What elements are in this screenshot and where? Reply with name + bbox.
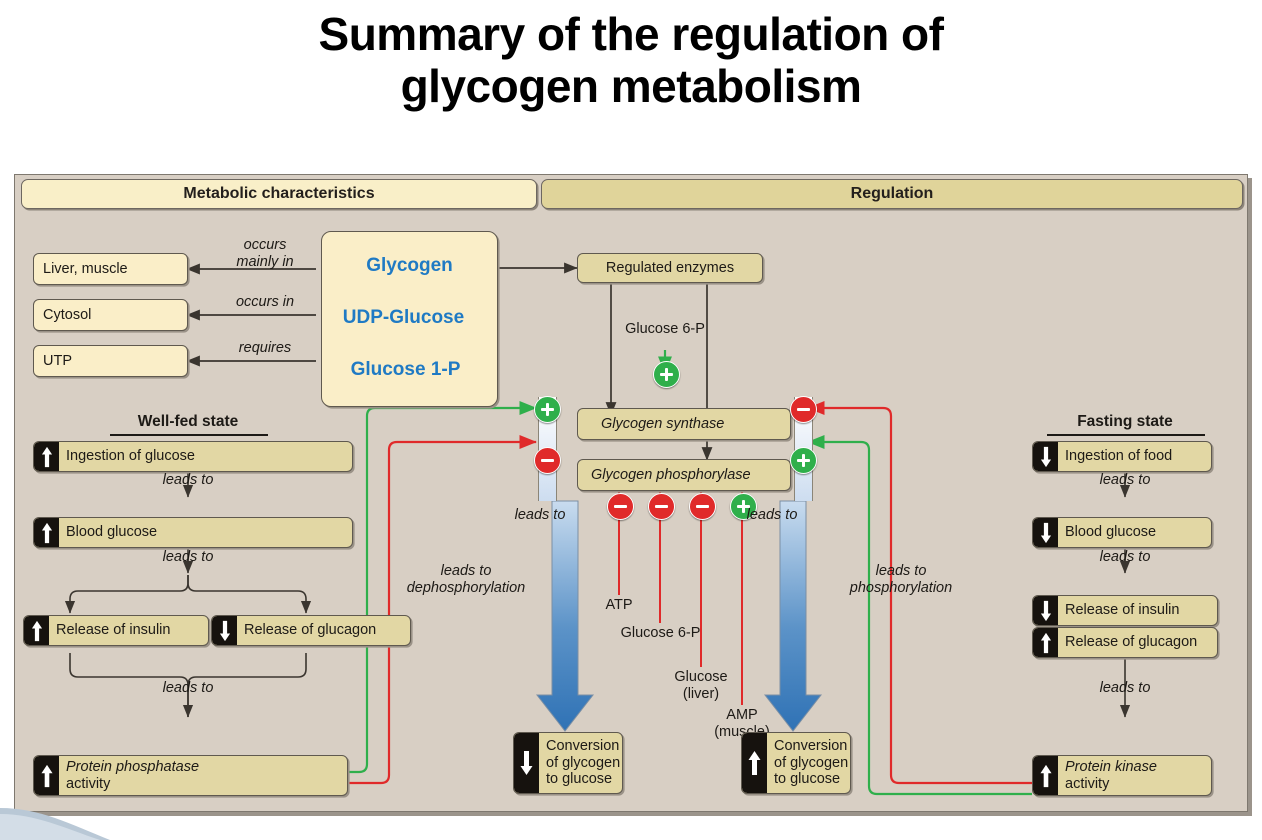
well-fed-final-line-2: activity <box>66 776 199 793</box>
header-metabolic-characteristics: Metabolic characteristics <box>21 179 537 209</box>
fasting-final-line-2: activity <box>1065 776 1157 793</box>
metabolic-location-0-label: Liver, muscle <box>43 261 128 277</box>
down-arrow-icon-fasting-hormone-0 <box>1033 596 1058 625</box>
fasting-step-0-label: Ingestion of food <box>1058 442 1211 471</box>
outcome-left-line-1: Conversion <box>546 738 620 755</box>
well-fed-hormone-0-label: Release of insulin <box>49 616 208 645</box>
outcome-left-box[interactable]: Conversion of glycogen to glucose <box>513 732 623 794</box>
header-regulation: Regulation <box>541 179 1243 209</box>
fasting-connector-1: leads to <box>1075 549 1175 566</box>
allosteric-activator-label: Glucose 6-P <box>600 321 730 338</box>
decorative-swoosh <box>0 800 240 840</box>
well-fed-connector-0: leads to <box>138 472 238 489</box>
minus-icon-phosphorylase-left <box>534 447 561 474</box>
fasting-hormone-1-label: Release of glucagon <box>1058 628 1217 657</box>
fasting-connector-2: leads to <box>1075 680 1175 697</box>
well-fed-final-text: Protein phosphatase activity <box>59 756 347 795</box>
enzyme-glycogen-synthase-label: Glycogen synthase <box>587 416 724 432</box>
fasting-final-box[interactable]: Protein kinase activity <box>1032 755 1212 796</box>
regulated-enzymes-label: Regulated enzymes <box>606 260 734 276</box>
outcome-right-text: Conversion of glycogen to glucose <box>767 733 850 793</box>
pathway-glycogen-label: Glycogen <box>321 255 498 277</box>
fasting-step-1[interactable]: Blood glucose <box>1032 517 1212 548</box>
fasting-final-text: Protein kinase activity <box>1058 756 1211 795</box>
minus-icon-glucose-liver <box>689 493 716 520</box>
fasting-final-line-1: Protein kinase <box>1065 759 1157 776</box>
up-arrow-icon-fasting-final <box>1033 756 1058 795</box>
minus-icon-glucose6p <box>648 493 675 520</box>
plus-icon-phosphorylase-right <box>790 447 817 474</box>
fasting-heading-rule <box>1047 434 1205 436</box>
leads-to-left-rail: leads to <box>503 507 577 524</box>
metabolic-location-0[interactable]: Liver, muscle <box>33 253 188 285</box>
fasting-step-0[interactable]: Ingestion of food <box>1032 441 1212 472</box>
minus-icon-synthase-right <box>790 396 817 423</box>
down-arrow-icon-outcome-left <box>514 733 539 793</box>
relation-label-0: occurs mainly in <box>211 237 319 271</box>
header-metabolic-label: Metabolic characteristics <box>183 185 374 203</box>
fasting-hormone-0[interactable]: Release of insulin <box>1032 595 1218 626</box>
pathway-udp-glucose-label: UDP-Glucose <box>315 307 492 329</box>
leads-to-right-rail: leads to <box>735 507 809 524</box>
fasting-hormone-0-label: Release of insulin <box>1058 596 1217 625</box>
page-title: Summary of the regulation of glycogen me… <box>0 8 1262 113</box>
well-fed-heading-rule <box>110 434 268 436</box>
plus-icon-synthase-left <box>534 396 561 423</box>
outcome-right-line-1: Conversion <box>774 738 848 755</box>
down-arrow-icon-well-fed-hormone-1 <box>212 616 237 645</box>
well-fed-final-line-1: Protein phosphatase <box>66 759 199 776</box>
up-arrow-icon-fasting-hormone-1 <box>1033 628 1058 657</box>
fasting-step-1-label: Blood glucose <box>1058 518 1211 547</box>
minus-icon-atp <box>607 493 634 520</box>
title-line-2: glycogen metabolism <box>0 60 1262 112</box>
relation-label-1: occurs in <box>211 294 319 311</box>
pathway-glucose-1p-label: Glucose 1-P <box>317 359 494 381</box>
well-fed-hormone-1[interactable]: Release of glucagon <box>211 615 411 646</box>
regulated-enzymes-box[interactable]: Regulated enzymes <box>577 253 763 283</box>
header-regulation-label: Regulation <box>851 185 934 203</box>
outcome-left-line-3: to glucose <box>546 771 620 788</box>
well-fed-hormone-1-label: Release of glucagon <box>237 616 410 645</box>
metabolic-location-2-label: UTP <box>43 353 72 369</box>
metabolic-location-1[interactable]: Cytosol <box>33 299 188 331</box>
metabolic-location-2[interactable]: UTP <box>33 345 188 377</box>
modulator-label-atp: ATP <box>577 597 661 614</box>
well-fed-step-0[interactable]: Ingestion of glucose <box>33 441 353 472</box>
enzyme-glycogen-synthase[interactable]: Glycogen synthase <box>577 408 791 440</box>
fasting-hormone-1[interactable]: Release of glucagon <box>1032 627 1218 658</box>
up-arrow-icon-well-fed-step-1 <box>34 518 59 547</box>
dephosphorylation-label: leads to dephosphorylation <box>392 563 540 597</box>
outcome-left-text: Conversion of glycogen to glucose <box>539 733 622 793</box>
well-fed-heading: Well-fed state <box>103 413 273 431</box>
well-fed-hormone-0[interactable]: Release of insulin <box>23 615 209 646</box>
plus-icon-glucose6p <box>653 361 680 388</box>
diagram-panel: Metabolic characteristics Regulation <box>14 174 1248 812</box>
fasting-heading: Fasting state <box>1040 413 1210 431</box>
metabolic-location-1-label: Cytosol <box>43 307 91 323</box>
well-fed-connector-2: leads to <box>138 680 238 697</box>
modulator-label-glucose-liver: Glucose (liver) <box>651 669 751 703</box>
outcome-right-box[interactable]: Conversion of glycogen to glucose <box>741 732 851 794</box>
well-fed-connector-1: leads to <box>138 549 238 566</box>
enzyme-glycogen-phosphorylase[interactable]: Glycogen phosphorylase <box>577 459 791 491</box>
up-arrow-icon-well-fed-step-0 <box>34 442 59 471</box>
up-arrow-icon-outcome-right <box>742 733 767 793</box>
down-arrow-icon-fasting-step-0 <box>1033 442 1058 471</box>
down-arrow-icon-fasting-step-1 <box>1033 518 1058 547</box>
enzyme-glycogen-phosphorylase-label: Glycogen phosphorylase <box>587 467 751 483</box>
well-fed-final-box[interactable]: Protein phosphatase activity <box>33 755 348 796</box>
phosphorylation-label: leads to phosphorylation <box>827 563 975 597</box>
well-fed-step-0-label: Ingestion of glucose <box>59 442 352 471</box>
outcome-left-line-2: of glycogen <box>546 755 620 772</box>
modulator-label-glucose6p: Glucose 6-P <box>583 625 738 642</box>
well-fed-step-1-label: Blood glucose <box>59 518 352 547</box>
relation-label-2: requires <box>211 340 319 357</box>
well-fed-step-1[interactable]: Blood glucose <box>33 517 353 548</box>
outcome-right-line-2: of glycogen <box>774 755 848 772</box>
fasting-connector-0: leads to <box>1075 472 1175 489</box>
outcome-right-line-3: to glucose <box>774 771 848 788</box>
up-arrow-icon-well-fed-hormone-0 <box>24 616 49 645</box>
up-arrow-icon-well-fed-final <box>34 756 59 795</box>
title-line-1: Summary of the regulation of <box>0 8 1262 60</box>
